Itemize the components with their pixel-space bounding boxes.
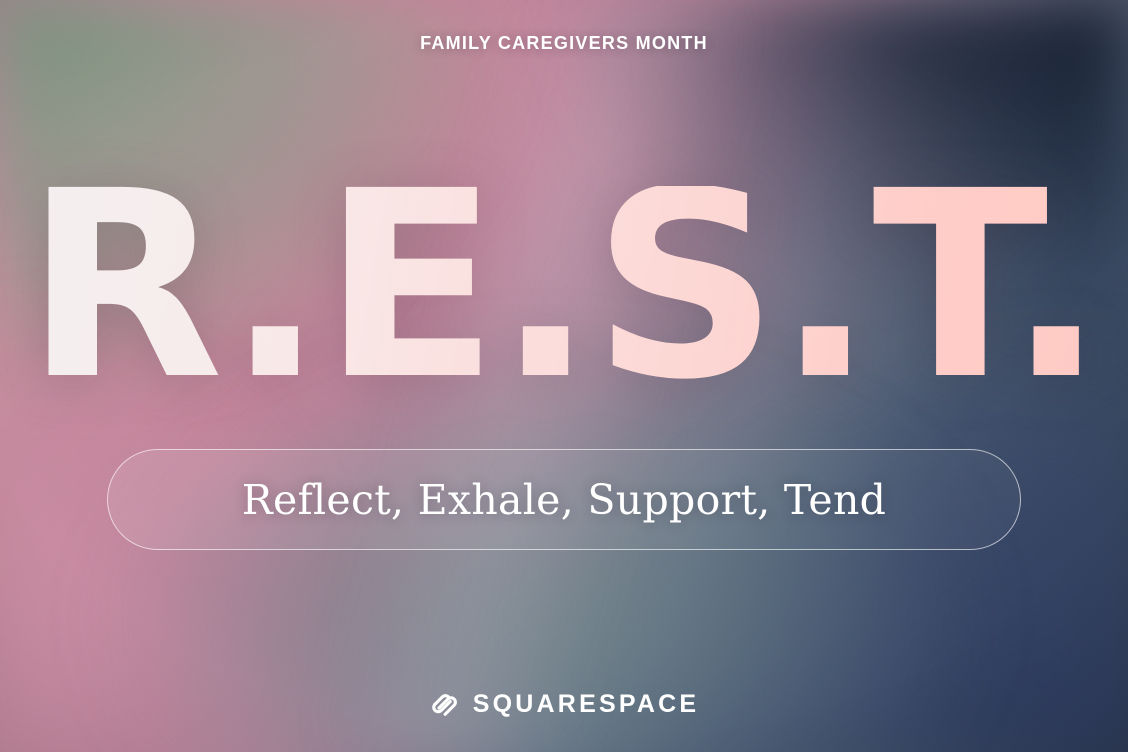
acronym-block: R.E.S.T. [0,186,1128,387]
squarespace-logo-icon [429,688,460,719]
brand-wordmark: SQUARESPACE [473,691,699,717]
acronym-headline: R.E.S.T. [25,186,1103,387]
eyebrow-heading: FAMILY CAREGIVERS MONTH [0,33,1128,54]
subtitle-pill: Reflect, Exhale, Support, Tend [107,449,1021,550]
subtitle-text: Reflect, Exhale, Support, Tend [242,476,886,524]
poster-content: FAMILY CAREGIVERS MONTH R.E.S.T. Reflect… [0,0,1128,752]
brand-lockup: SQUARESPACE [0,688,1128,719]
poster-canvas: FAMILY CAREGIVERS MONTH R.E.S.T. Reflect… [0,0,1128,752]
